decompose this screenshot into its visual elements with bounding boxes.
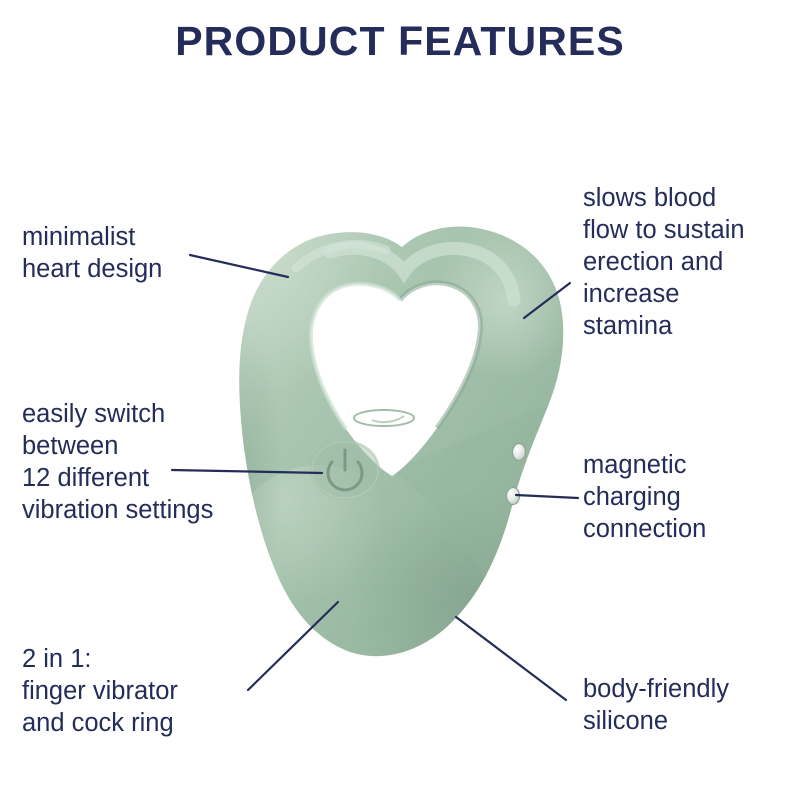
magnetic-charging-contacts bbox=[507, 444, 526, 505]
charging-contact-upper bbox=[513, 444, 526, 461]
page-title: PRODUCT FEATURES bbox=[0, 18, 800, 65]
leader-line-minimalist bbox=[190, 255, 288, 277]
leader-line-magnetic bbox=[516, 495, 578, 498]
callout-minimalist-heart-design: minimalist heart design bbox=[22, 221, 162, 285]
charging-contact-lower bbox=[507, 488, 520, 505]
callout-body-friendly-silicone: body-friendly silicone bbox=[583, 673, 729, 737]
callout-magnetic-charging: magnetic charging connection bbox=[583, 449, 706, 545]
product-features-infographic: PRODUCT FEATURES bbox=[0, 0, 800, 800]
ring-opening bbox=[311, 283, 481, 476]
leader-line-two-in-one bbox=[248, 602, 338, 690]
callout-easily-switch-vibration: easily switch between 12 different vibra… bbox=[22, 398, 213, 526]
engraved-mark bbox=[354, 410, 414, 426]
power-icon bbox=[328, 450, 362, 490]
leader-line-body-friendly bbox=[456, 617, 566, 700]
power-button[interactable] bbox=[310, 440, 380, 500]
callout-two-in-one: 2 in 1: finger vibrator and cock ring bbox=[22, 643, 178, 739]
callout-slows-blood-flow: slows blood flow to sustain erection and… bbox=[583, 182, 745, 342]
product-body bbox=[190, 200, 590, 710]
leader-line-slows-blood bbox=[524, 283, 570, 318]
